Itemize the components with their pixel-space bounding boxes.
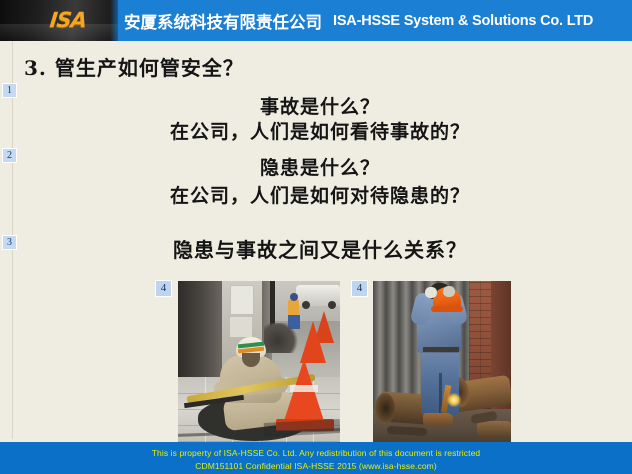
footer-document-line: CDM151101 Confidential ISA-HSSE 2015 (ww… bbox=[0, 460, 632, 473]
animation-marker-4-left[interactable]: 4 bbox=[155, 280, 172, 297]
photo-right-worker-hand-right bbox=[443, 286, 455, 297]
photo-right-worker-hand-left bbox=[425, 287, 437, 298]
footer-copyright-line: This is property of ISA-HSSE Co. Ltd. An… bbox=[0, 442, 632, 460]
photo-left-dark-wall bbox=[178, 281, 222, 385]
slide-footer: This is property of ISA-HSSE Co. Ltd. An… bbox=[0, 442, 632, 474]
question-line-1: 事故是什么？ bbox=[4, 92, 632, 119]
photo-left-van-wheel-front bbox=[302, 301, 310, 309]
animation-marker-4-right[interactable]: 4 bbox=[351, 280, 368, 297]
photo-left-poster bbox=[230, 285, 254, 315]
photo-right-pipe-small bbox=[477, 421, 511, 437]
photo-right-worker-boot bbox=[423, 413, 453, 425]
photo-left-poster-lower bbox=[230, 317, 252, 337]
question-line-5: 隐患与事故之间又是什么关系？ bbox=[4, 234, 632, 263]
slide-canvas: ISA 安厦系统科技有限责任公司 ISA-HSSE System & Solut… bbox=[0, 0, 632, 474]
photo-right-hard-hat-brim bbox=[431, 306, 463, 312]
photo-manhole-worker bbox=[178, 281, 340, 442]
company-name-cn: 安厦系统科技有限责任公司 bbox=[124, 9, 322, 33]
photo-left-cone-mid bbox=[300, 321, 326, 363]
header-gradient-edge bbox=[110, 0, 124, 41]
isa-logo: ISA bbox=[22, 8, 115, 32]
photo-left-van-wheel-rear bbox=[328, 301, 336, 309]
company-name-en: ISA-HSSE System & Solutions Co. LTD bbox=[333, 13, 593, 29]
slide-header: ISA 安厦系统科技有限责任公司 ISA-HSSE System & Solut… bbox=[0, 0, 632, 41]
photo-left-cone-stripe bbox=[290, 385, 318, 392]
photo-right-spark-glow bbox=[447, 393, 461, 407]
photo-left-pavement-tile bbox=[178, 377, 206, 394]
header-title-group: 安厦系统科技有限责任公司 ISA-HSSE System & Solutions… bbox=[124, 0, 593, 41]
question-line-4: 在公司，人们是如何对待隐患的？ bbox=[4, 181, 632, 208]
photo-left-parked-bicycle bbox=[264, 323, 298, 353]
question-line-2: 在公司，人们是如何看待事故的？ bbox=[4, 117, 632, 144]
page-title: 3. 管生产如何管安全？ bbox=[24, 52, 244, 81]
photo-pipe-worker bbox=[373, 281, 511, 442]
photo-right-pipe-left-opening bbox=[375, 393, 395, 424]
photo-left-bystander-head bbox=[290, 293, 298, 301]
question-line-3: 隐患是什么？ bbox=[4, 153, 632, 180]
photo-right-worker-belt bbox=[423, 347, 459, 352]
